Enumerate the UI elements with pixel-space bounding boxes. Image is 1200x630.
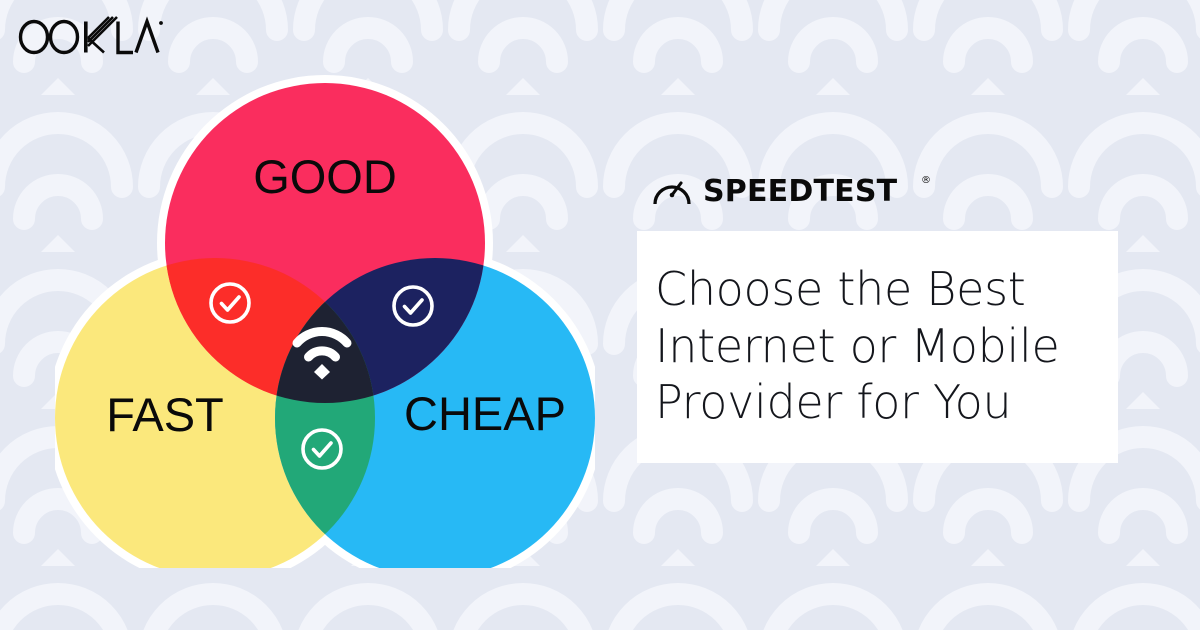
ookla-logo: [14, 14, 164, 60]
venn-label-good: GOOD: [253, 150, 397, 203]
speedometer-icon: [655, 183, 689, 204]
right-column: SPEEDTEST ® Choose the Best Internet or …: [637, 170, 1137, 463]
poster-canvas: GOOD FAST CHEAP: [0, 0, 1200, 630]
venn-label-fast: FAST: [106, 388, 224, 441]
speedtest-trademark: ®: [921, 175, 931, 186]
headline-panel: Choose the Best Internet or Mobile Provi…: [637, 231, 1118, 463]
speedtest-wordmark: SPEEDTEST: [703, 174, 898, 209]
speedtest-logo: SPEEDTEST ®: [649, 170, 1137, 216]
venn-diagram: GOOD FAST CHEAP: [55, 68, 595, 568]
page-title: Choose the Best Internet or Mobile Provi…: [655, 261, 1118, 431]
venn-label-cheap: CHEAP: [404, 387, 566, 440]
